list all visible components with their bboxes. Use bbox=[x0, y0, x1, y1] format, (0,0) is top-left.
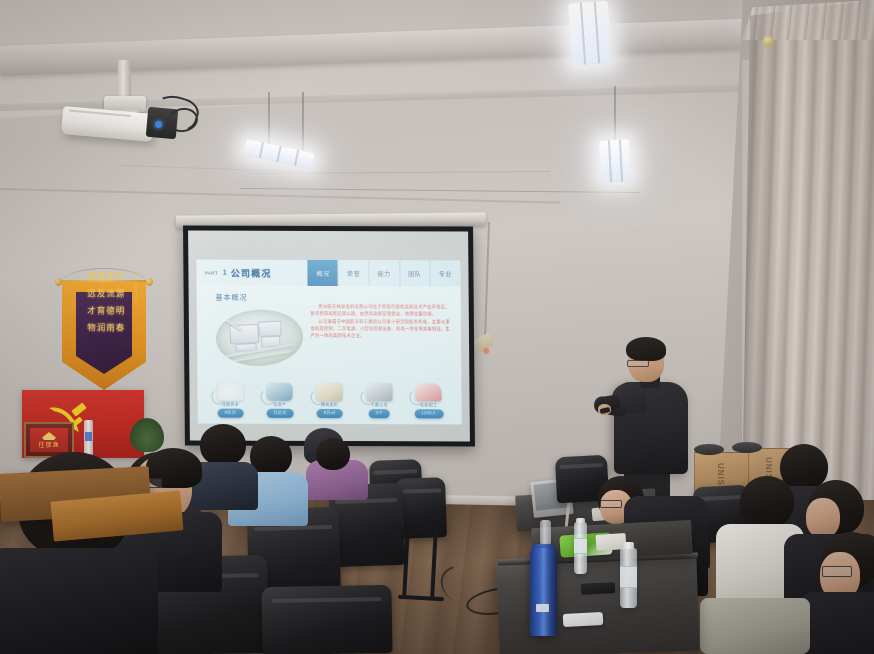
curtain-shading bbox=[742, 0, 874, 520]
slide-paragraph-1: 贵州航天林泉电机有限公司位于贵阳市国家高新技术产业开发区，紧邻贵阳高新区观山湖，… bbox=[310, 303, 450, 318]
stat-value: 3个 bbox=[369, 409, 390, 418]
stat-item-subsidiary: 下属公司 3个 bbox=[357, 383, 401, 418]
tube-louvre bbox=[294, 150, 299, 166]
slide-header: PART 1 公司概况 概况 荣誉 能力 团队 专业 bbox=[197, 260, 460, 286]
slide-part-label: PART bbox=[205, 270, 218, 275]
tube-louvre bbox=[619, 140, 623, 182]
stat-label: 总资产 bbox=[273, 401, 286, 407]
slide-paragraph-2: 公司隶属于中国航天科工集团公司第十研究院航天机电，主要从事电机及控制、二次电源、… bbox=[310, 318, 450, 340]
slide-tab-rongyu[interactable]: 荣誉 bbox=[338, 260, 369, 285]
donation-box-label: 往那渔 bbox=[38, 440, 59, 452]
pennant-line-2: 明德育才 bbox=[72, 306, 124, 321]
tube-louvre bbox=[276, 146, 281, 162]
slide-tab-gaikuang[interactable]: 概况 bbox=[307, 260, 338, 285]
presenter-glasses bbox=[627, 360, 649, 367]
donation-box-emblem-icon bbox=[42, 432, 56, 440]
water-bottle-2-cap bbox=[623, 542, 634, 549]
attendee-khaki-legs bbox=[700, 598, 810, 654]
pennant-text: 春雨润物 明德育才 源流及远 千里思源 bbox=[72, 272, 124, 338]
front-meeting-table bbox=[496, 553, 699, 654]
staff-icon bbox=[416, 383, 442, 401]
stat-swoosh bbox=[360, 389, 376, 405]
black-smartphone[interactable] bbox=[581, 582, 616, 595]
pennant-line-4: 千里思源 bbox=[72, 272, 124, 287]
attendee-right-glasses-icon bbox=[822, 566, 852, 577]
stat-value: 万亿元 bbox=[266, 408, 294, 417]
attendee-right-white-head bbox=[740, 476, 794, 528]
hammer-head bbox=[71, 402, 86, 416]
blue-thermos[interactable] bbox=[530, 548, 557, 636]
attendee-purple-head bbox=[316, 438, 350, 470]
stat-value: 1200人 bbox=[414, 409, 443, 418]
slide-section-heading: 基本概况 bbox=[215, 293, 247, 303]
slide-tabs: 概况 荣誉 能力 团队 专业 bbox=[307, 260, 460, 286]
attendee-right-glasses-torso bbox=[800, 592, 874, 654]
light-stem-2 bbox=[302, 92, 304, 152]
water-bottle-3 bbox=[540, 520, 551, 546]
building-icon bbox=[316, 383, 342, 401]
stat-swoosh bbox=[211, 388, 227, 404]
tube-louvre bbox=[259, 142, 264, 158]
attendee-navy-head bbox=[200, 424, 246, 466]
projection-screen: PART 1 公司概况 概况 荣誉 能力 团队 专业 基本概况 bbox=[183, 225, 475, 446]
stat-item-staff: 在职职工 1200人 bbox=[407, 383, 451, 418]
slide-body-text: 贵州航天林泉电机有限公司位于贵阳市国家高新技术产业开发区，紧邻贵阳高新区观山湖，… bbox=[310, 303, 450, 341]
fluorescent-tube-2 bbox=[568, 1, 612, 66]
presenter-ear bbox=[656, 360, 663, 370]
pennant-line-1: 春雨润物 bbox=[72, 323, 124, 338]
slide-tab-tuandui[interactable]: 团队 bbox=[399, 261, 430, 286]
stat-value: 4亿元 bbox=[218, 408, 244, 417]
pennant-top-note: 贵一九九年之愿 bbox=[133, 272, 139, 303]
chair-front-2[interactable] bbox=[261, 585, 392, 654]
slide-stats-row: 注册资本 4亿元 总资产 万亿元 建筑面积 8万㎡ bbox=[208, 345, 451, 418]
light-stem-1 bbox=[268, 92, 270, 144]
tube-louvre bbox=[608, 140, 612, 182]
donation-box-face: 往那渔 bbox=[30, 428, 68, 452]
stat-value: 8万㎡ bbox=[317, 409, 343, 418]
curtain-rod-finial bbox=[763, 36, 774, 47]
wall-pennant-banner: 春雨润物 明德育才 源流及远 千里思源 贵一九九年之愿 bbox=[56, 258, 152, 398]
stat-item-assets: 总资产 万亿元 bbox=[258, 382, 302, 417]
presenter-hair bbox=[626, 337, 666, 361]
cable-reel-1 bbox=[694, 444, 724, 455]
water-bottle-2-label bbox=[620, 566, 637, 588]
slide-title-zone: PART 1 公司概况 bbox=[197, 260, 308, 286]
stat-swoosh bbox=[410, 389, 426, 405]
assets-icon bbox=[267, 382, 293, 400]
slide-part-number: 1 bbox=[223, 269, 227, 276]
water-bottle-1-label bbox=[574, 538, 587, 554]
potted-plant bbox=[130, 418, 164, 452]
water-bottle-1-cap bbox=[576, 518, 585, 523]
projection-screen-canvas: PART 1 公司概况 概况 荣誉 能力 团队 专业 基本概况 bbox=[188, 231, 470, 442]
stat-item-building: 建筑面积 8万㎡ bbox=[308, 383, 352, 418]
conference-room-photo: 春雨润物 明德育才 源流及远 千里思源 贵一九九年之愿 往那渔 bbox=[0, 0, 874, 654]
subsidiary-icon bbox=[366, 383, 392, 401]
slide-title: 公司概况 bbox=[231, 266, 272, 279]
box-brand-label: UNIS bbox=[716, 463, 725, 486]
cable-reel-2 bbox=[732, 442, 762, 453]
stat-swoosh bbox=[310, 389, 326, 405]
presentation-slide: PART 1 公司概况 概况 荣誉 能力 团队 专业 基本概况 bbox=[197, 260, 462, 425]
render-building bbox=[258, 320, 281, 336]
stat-item-capital: 注册资本 4亿元 bbox=[208, 382, 252, 417]
tube-louvre bbox=[580, 2, 586, 64]
blue-thermos-label bbox=[536, 604, 549, 612]
pennant-line-3: 源流及远 bbox=[72, 289, 124, 304]
attendee-front-left-torso bbox=[0, 548, 158, 654]
tube-louvre bbox=[594, 2, 600, 64]
slide-tab-nengli[interactable]: 能力 bbox=[368, 261, 399, 286]
light-stem-3 bbox=[614, 86, 616, 142]
slide-tab-zhuanye[interactable]: 专业 bbox=[429, 261, 460, 286]
attendee-right-black-face bbox=[806, 498, 840, 538]
white-smartphone[interactable] bbox=[563, 612, 604, 627]
capital-icon bbox=[217, 382, 243, 400]
attendee-laptop-user-glasses-icon bbox=[600, 500, 622, 508]
stat-swoosh bbox=[261, 388, 277, 404]
fluorescent-tube-3 bbox=[599, 139, 631, 183]
render-building bbox=[229, 324, 260, 344]
